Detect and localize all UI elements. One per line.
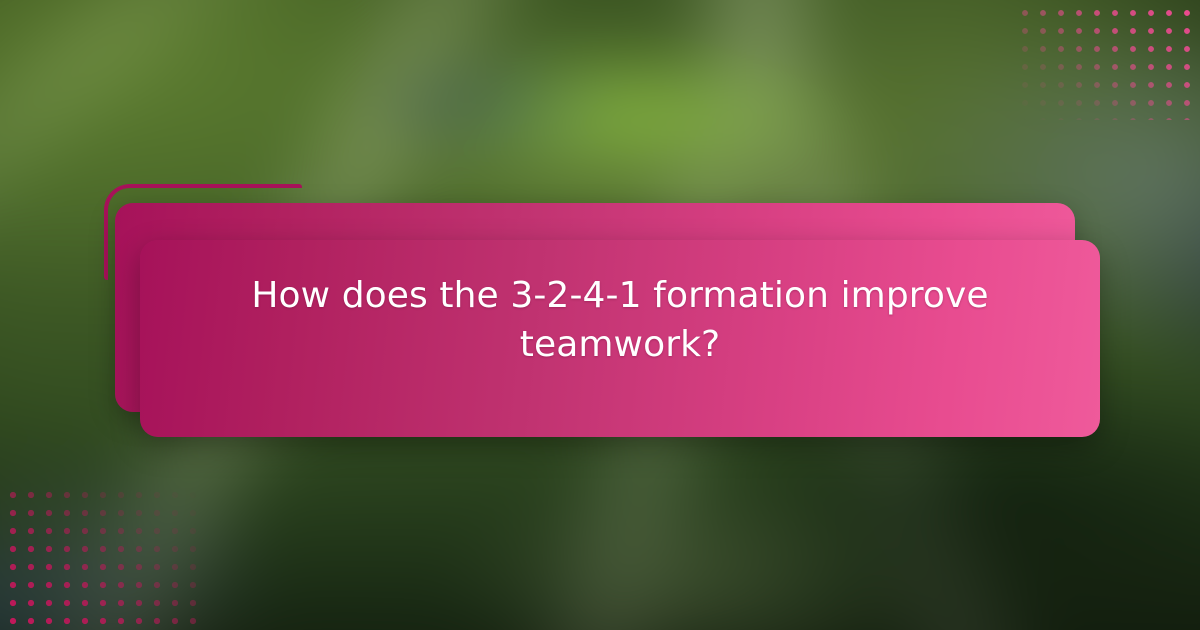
quote-text: How does the 3-2-4-1 formation improve t… [240,271,1000,369]
quote-text-container: How does the 3-2-4-1 formation improve t… [140,203,1100,437]
quote-card-canvas: How does the 3-2-4-1 formation improve t… [0,0,1200,630]
halftone-dots-top-right-icon [1010,0,1200,120]
halftone-dots-bottom-left-icon [0,480,200,630]
